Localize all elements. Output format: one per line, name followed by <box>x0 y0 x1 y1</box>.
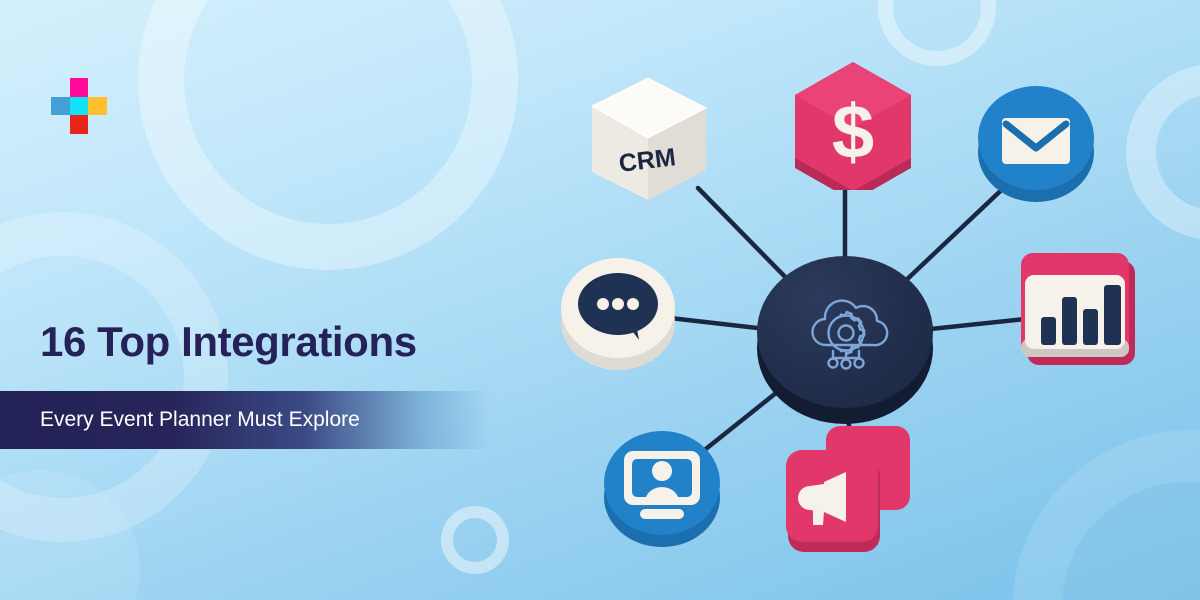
decor-ring-top-left <box>138 0 518 270</box>
dollar-sign-glyph: $ <box>832 90 874 175</box>
page-title: 16 Top Integrations <box>40 318 417 366</box>
megaphone-cards-icon <box>786 426 910 552</box>
subtitle-bar: Every Event Planner Must Explore <box>0 391 492 449</box>
person-head-icon <box>652 461 672 481</box>
decor-ring-left <box>0 212 228 542</box>
logo-segment-right-icon <box>88 97 107 115</box>
chat-dot-3 <box>627 298 639 310</box>
chat-dot-2 <box>612 298 624 310</box>
email-circle-icon <box>978 86 1094 202</box>
webinar-circle-icon <box>604 431 720 547</box>
bar-4 <box>1104 285 1121 345</box>
integration-network-diagram: CRM $ <box>520 30 1200 575</box>
bar-2 <box>1062 297 1077 345</box>
node-webinar[interactable] <box>598 425 726 551</box>
logo-segment-bottom-icon <box>70 115 88 134</box>
chat-dot-1 <box>597 298 609 310</box>
node-email[interactable] <box>972 80 1100 204</box>
bar-1 <box>1041 317 1056 345</box>
node-payments[interactable]: $ <box>785 58 921 190</box>
crm-cube-icon: CRM <box>592 78 706 200</box>
cloud-integration-hub[interactable] <box>755 248 935 428</box>
logo-segment-center-icon <box>70 97 88 115</box>
integrations-banner: 16 Top Integrations Every Event Planner … <box>0 0 1200 600</box>
dollar-hexagon-icon: $ <box>795 62 911 190</box>
analytics-card-icon <box>1021 253 1135 365</box>
logo-segment-top-icon <box>70 78 88 97</box>
decor-ring-small-bottom <box>441 506 509 574</box>
node-marketing[interactable] <box>778 422 918 558</box>
page-subtitle: Every Event Planner Must Explore <box>40 408 360 432</box>
chat-circle-icon <box>561 258 675 370</box>
monitor-stand-icon <box>640 509 684 519</box>
cloud-gear-network-icon <box>803 288 889 378</box>
node-crm[interactable]: CRM <box>578 72 718 207</box>
bar-3 <box>1083 309 1098 345</box>
colored-plus-logo <box>51 78 107 134</box>
node-chat[interactable] <box>555 252 681 374</box>
logo-segment-left-icon <box>51 97 70 115</box>
node-analytics[interactable] <box>1015 245 1149 377</box>
